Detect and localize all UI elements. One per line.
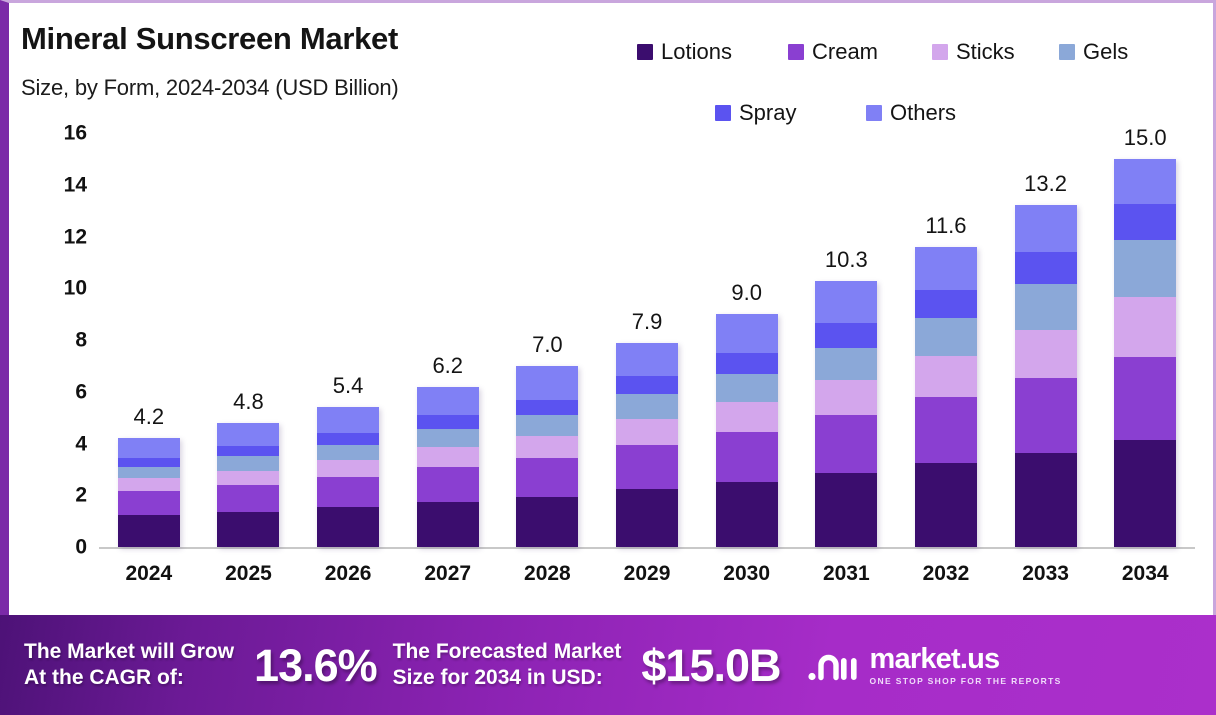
- y-axis-tick: 12: [64, 226, 87, 247]
- bar-segment-cream[interactable]: [1114, 357, 1176, 440]
- bar-column: 5.4: [298, 133, 398, 547]
- bar-segment-sticks[interactable]: [616, 419, 678, 445]
- bar-segment-lotions[interactable]: [616, 489, 678, 547]
- bar-segment-others[interactable]: [516, 366, 578, 400]
- x-axis-tick: 2031: [796, 557, 896, 597]
- legend-swatch-icon: [1059, 44, 1075, 60]
- legend-item-others[interactable]: Others: [866, 102, 1010, 124]
- y-axis-tick: 8: [75, 330, 87, 351]
- x-axis-tick: 2026: [298, 557, 398, 597]
- y-axis-tick: 2: [75, 485, 87, 506]
- bar-segment-cream[interactable]: [1015, 378, 1077, 453]
- bar-segment-sticks[interactable]: [217, 471, 279, 485]
- stacked-bar[interactable]: [217, 423, 279, 547]
- bar-segment-cream[interactable]: [516, 458, 578, 497]
- x-axis-tick: 2030: [697, 557, 797, 597]
- cagr-label-line2: At the CAGR of:: [24, 665, 234, 691]
- bar-segment-cream[interactable]: [616, 445, 678, 489]
- bar-column: 6.2: [398, 133, 498, 547]
- bar-segment-spray[interactable]: [616, 376, 678, 394]
- bar-segment-cream[interactable]: [716, 432, 778, 482]
- y-axis-tick: 10: [64, 278, 87, 299]
- bar-segment-spray[interactable]: [915, 290, 977, 318]
- bar-segment-lotions[interactable]: [1114, 440, 1176, 547]
- legend-item-lotions[interactable]: Lotions: [637, 41, 788, 63]
- x-axis-tick: 2029: [597, 557, 697, 597]
- bar-column: 11.6: [896, 133, 996, 547]
- bar-column: 4.8: [199, 133, 299, 547]
- x-axis-tick: 2032: [896, 557, 996, 597]
- bar-segment-others[interactable]: [317, 407, 379, 433]
- bar-segment-others[interactable]: [716, 314, 778, 353]
- bar-segment-cream[interactable]: [317, 477, 379, 507]
- bar-value-label: 6.2: [432, 355, 463, 377]
- bar-segment-lotions[interactable]: [217, 512, 279, 547]
- bar-column: 7.0: [498, 133, 598, 547]
- bar-segment-cream[interactable]: [217, 485, 279, 512]
- bar-segment-cream[interactable]: [815, 415, 877, 473]
- bar-segment-sticks[interactable]: [516, 436, 578, 458]
- legend-swatch-icon: [788, 44, 804, 60]
- footer-banner: The Market will Grow At the CAGR of: 13.…: [0, 615, 1216, 715]
- bar-segment-cream[interactable]: [417, 467, 479, 502]
- stacked-bar[interactable]: [1114, 159, 1176, 547]
- bar-value-label: 5.4: [333, 375, 364, 397]
- logo-tagline: ONE STOP SHOP FOR THE REPORTS: [870, 677, 1062, 686]
- stacked-bar[interactable]: [815, 281, 877, 548]
- legend-item-label: Sticks: [956, 41, 1015, 63]
- bar-segment-sticks[interactable]: [417, 447, 479, 466]
- legend-item-sticks[interactable]: Sticks: [932, 41, 1059, 63]
- bar-column: 10.3: [796, 133, 896, 547]
- stacked-bar[interactable]: [317, 407, 379, 547]
- bar-segment-gels[interactable]: [616, 394, 678, 419]
- bar-column: 15.0: [1095, 133, 1195, 547]
- bar-column: 9.0: [697, 133, 797, 547]
- legend-item-label: Gels: [1083, 41, 1128, 63]
- bar-segment-gels[interactable]: [317, 445, 379, 461]
- cagr-value: 13.6%: [254, 643, 377, 688]
- y-axis-tick: 16: [64, 123, 87, 144]
- bar-segment-gels[interactable]: [118, 467, 180, 479]
- bar-segment-lotions[interactable]: [915, 463, 977, 547]
- market-us-logo[interactable]: market.us ONE STOP SHOP FOR THE REPORTS: [807, 645, 1062, 686]
- infographic-root: Mineral Sunscreen Market Size, by Form, …: [0, 0, 1216, 712]
- bar-segment-sticks[interactable]: [1015, 330, 1077, 378]
- bar-segment-spray[interactable]: [1114, 204, 1176, 240]
- bar-value-label: 9.0: [731, 282, 762, 304]
- bar-segment-cream[interactable]: [118, 491, 180, 514]
- forecast-label: The Forecasted Market Size for 2034 in U…: [393, 639, 622, 691]
- bar-segment-others[interactable]: [1114, 159, 1176, 204]
- chart-legend: Lotions Cream Sticks Gels Spray Oth: [627, 41, 1207, 124]
- stacked-bar[interactable]: [516, 366, 578, 547]
- x-axis-tick: 2034: [1095, 557, 1195, 597]
- bar-value-label: 4.8: [233, 391, 264, 413]
- stacked-bar[interactable]: [118, 438, 180, 547]
- legend-item-cream[interactable]: Cream: [788, 41, 932, 63]
- page-subtitle: Size, by Form, 2024-2034 (USD Billion): [21, 75, 399, 101]
- legend-item-spray[interactable]: Spray: [715, 102, 866, 124]
- legend-swatch-icon: [866, 105, 882, 121]
- bar-segment-spray[interactable]: [217, 446, 279, 456]
- bar-segment-spray[interactable]: [417, 415, 479, 429]
- legend-swatch-icon: [637, 44, 653, 60]
- bar-value-label: 7.0: [532, 334, 563, 356]
- bar-segment-sticks[interactable]: [317, 460, 379, 477]
- legend-item-gels[interactable]: Gels: [1059, 41, 1169, 63]
- bar-segment-others[interactable]: [1015, 205, 1077, 252]
- legend-item-label: Others: [890, 102, 956, 124]
- cagr-label: The Market will Grow At the CAGR of:: [24, 639, 234, 691]
- bar-column: 7.9: [597, 133, 697, 547]
- bar-segment-others[interactable]: [915, 247, 977, 290]
- bar-segment-others[interactable]: [815, 281, 877, 324]
- x-axis-tick: 2024: [99, 557, 199, 597]
- bar-column: 4.2: [99, 133, 199, 547]
- stacked-bar[interactable]: [616, 343, 678, 547]
- bar-segment-others[interactable]: [217, 423, 279, 446]
- legend-item-label: Spray: [739, 102, 796, 124]
- stacked-bar[interactable]: [417, 387, 479, 547]
- bar-value-label: 15.0: [1124, 127, 1167, 149]
- bar-value-label: 11.6: [925, 215, 966, 237]
- y-axis: 0246810121416: [9, 133, 97, 547]
- y-axis-tick: 14: [64, 174, 87, 195]
- y-axis-tick: 0: [75, 537, 87, 558]
- bar-segment-others[interactable]: [118, 438, 180, 457]
- bar-value-label: 10.3: [825, 249, 868, 271]
- chart-plot-area: 0246810121416 4.24.85.46.27.07.99.010.31…: [9, 133, 1213, 603]
- bar-segment-lotions[interactable]: [317, 507, 379, 547]
- bar-segment-cream[interactable]: [915, 397, 977, 463]
- bar-segment-lotions[interactable]: [516, 497, 578, 547]
- forecast-label-line1: The Forecasted Market: [393, 639, 622, 665]
- x-axis-tick: 2028: [498, 557, 598, 597]
- stacked-bar[interactable]: [1015, 205, 1077, 547]
- y-axis-tick: 6: [75, 381, 87, 402]
- bar-segment-spray[interactable]: [1015, 252, 1077, 284]
- bar-segment-lotions[interactable]: [118, 515, 180, 547]
- logo-name: market.us: [870, 645, 1062, 674]
- legend-swatch-icon: [715, 105, 731, 121]
- bar-segment-gels[interactable]: [915, 318, 977, 356]
- stacked-bar[interactable]: [915, 247, 977, 547]
- bar-segment-gels[interactable]: [815, 348, 877, 380]
- legend-row-1: Lotions Cream Sticks Gels: [637, 41, 1207, 63]
- forecast-label-line2: Size for 2034 in USD:: [393, 665, 622, 691]
- bar-segment-sticks[interactable]: [716, 402, 778, 432]
- bar-segment-spray[interactable]: [716, 353, 778, 374]
- bar-segment-gels[interactable]: [1015, 284, 1077, 329]
- bar-segment-gels[interactable]: [1114, 240, 1176, 297]
- bar-segment-gels[interactable]: [217, 456, 279, 470]
- x-axis-baseline: [99, 547, 1195, 549]
- bar-segment-spray[interactable]: [118, 458, 180, 467]
- bar-segment-gels[interactable]: [417, 429, 479, 447]
- bar-value-label: 7.9: [632, 311, 663, 333]
- bar-segment-sticks[interactable]: [815, 380, 877, 415]
- page-title: Mineral Sunscreen Market: [21, 21, 398, 57]
- forecast-value: $15.0B: [641, 643, 780, 688]
- x-axis-tick: 2033: [996, 557, 1096, 597]
- bar-value-label: 4.2: [134, 406, 165, 428]
- bar-segment-sticks[interactable]: [1114, 297, 1176, 357]
- bar-segment-sticks[interactable]: [118, 478, 180, 491]
- bar-segment-lotions[interactable]: [417, 502, 479, 547]
- cagr-label-line1: The Market will Grow: [24, 639, 234, 665]
- bar-segment-spray[interactable]: [317, 433, 379, 445]
- bar-segment-lotions[interactable]: [716, 482, 778, 547]
- x-axis-tick: 2025: [199, 557, 299, 597]
- bar-segment-sticks[interactable]: [915, 356, 977, 397]
- legend-item-label: Cream: [812, 41, 878, 63]
- bar-segment-others[interactable]: [616, 343, 678, 377]
- legend-swatch-icon: [932, 44, 948, 60]
- bar-value-label: 13.2: [1024, 173, 1067, 195]
- bar-segment-gels[interactable]: [516, 415, 578, 436]
- stacked-bar[interactable]: [716, 314, 778, 547]
- y-axis-tick: 4: [75, 433, 87, 454]
- bar-segment-spray[interactable]: [516, 400, 578, 416]
- x-axis: 2024202520262027202820292030203120322033…: [99, 557, 1195, 597]
- bar-segment-spray[interactable]: [815, 323, 877, 348]
- bar-segment-lotions[interactable]: [815, 473, 877, 547]
- x-axis-tick: 2027: [398, 557, 498, 597]
- market-us-logo-icon: [807, 647, 861, 683]
- bar-segment-lotions[interactable]: [1015, 453, 1077, 547]
- bar-segment-gels[interactable]: [716, 374, 778, 402]
- legend-item-label: Lotions: [661, 41, 732, 63]
- bar-group: 4.24.85.46.27.07.99.010.311.613.215.0: [99, 133, 1195, 547]
- market-us-logo-text: market.us ONE STOP SHOP FOR THE REPORTS: [870, 645, 1062, 686]
- bar-column: 13.2: [996, 133, 1096, 547]
- bar-segment-others[interactable]: [417, 387, 479, 415]
- legend-row-2: Spray Others: [715, 102, 1207, 124]
